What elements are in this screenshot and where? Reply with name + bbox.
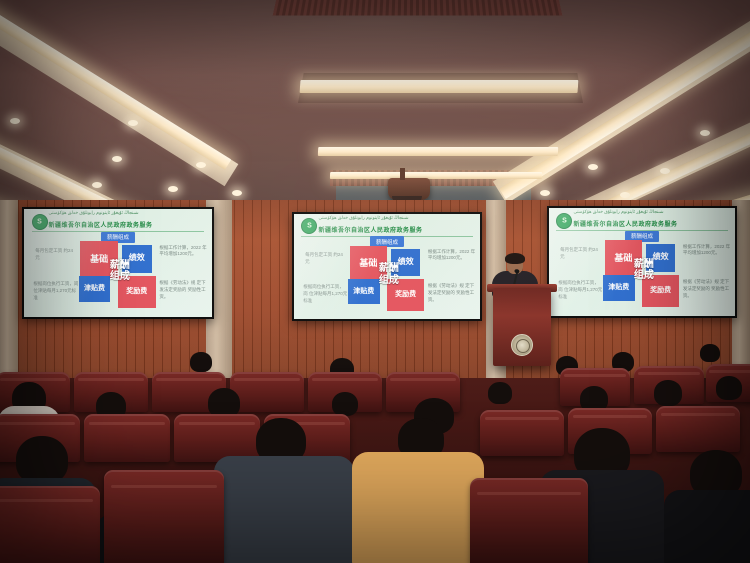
slide-note-4: 根据《劳动法》规 定下发法定奖励的 奖励性工资。: [428, 283, 476, 303]
slide-center-label: 薪酬 组成: [622, 259, 667, 281]
institution-seal-icon: [511, 334, 533, 356]
slide-note-2: 根据工作计算，2022 年平均增加1200元。: [159, 245, 208, 259]
downlight-icon: [660, 168, 670, 174]
center-label-line2: 组成: [622, 270, 667, 281]
led-strip-icon: [318, 147, 558, 156]
slide-org-uyghur: شىنجاڭ ئۇيغۇر ئاپتونوم رايونلۇق خەلق ھۆك…: [573, 209, 663, 215]
block-label: 津贴费: [84, 285, 105, 292]
center-label-line2: 组成: [97, 271, 142, 282]
slide-org-uyghur: شىنجاڭ ئۇيغۇر ئاپتونوم رايونلۇق خەلق ھۆك…: [318, 215, 408, 221]
center-screen[interactable]: S شىنجاڭ ئۇيغۇر ئاپتونوم رايونلۇق خەلق ھ…: [292, 212, 482, 321]
slide-surface: S شىنجاڭ ئۇيغۇر ئاپتونوم رايونلۇق خەلق ھ…: [294, 214, 480, 319]
downlight-icon: [700, 130, 710, 136]
slide-surface: S شىنجاڭ ئۇيغۇر ئاپتونوم رايونلۇق خەلق ھ…: [549, 208, 735, 316]
downlight-icon: [232, 190, 242, 196]
downlight-icon: [620, 192, 630, 198]
downlight-icon: [588, 164, 598, 170]
slide-header: S شىنجاڭ ئۇيغۇر ئاپتونوم رايونلۇق خەلق ھ…: [301, 217, 472, 234]
slide-center-label: 薪酬 组成: [97, 260, 142, 282]
audience-head: [700, 344, 720, 362]
slide-section-tag: 薪酬组成: [625, 231, 659, 242]
podium: [493, 288, 551, 366]
center-label-line1: 薪酬: [97, 260, 142, 271]
seat: [480, 410, 564, 456]
block-label: 津贴费: [608, 284, 629, 291]
org-logo-icon: S: [301, 218, 317, 234]
led-strip-icon: [330, 172, 542, 179]
seat: [656, 406, 740, 452]
block-label: 奖励费: [650, 287, 671, 294]
slide-org-chinese: 新疆维吾尔自治区人民政府政务服务: [573, 219, 677, 228]
block-label: 奖励费: [395, 291, 416, 298]
slide-org-chinese: 新疆维吾尔自治区人民政府政务服务: [318, 225, 422, 234]
audience-head: [332, 392, 358, 416]
wall-pilaster: [0, 200, 18, 385]
center-label-line2: 组成: [367, 275, 412, 286]
slide-header-rule: [32, 231, 205, 232]
slide-section-tag: 薪酬组成: [370, 236, 404, 247]
logo-glyph: S: [562, 217, 567, 224]
audience-head: [16, 436, 68, 484]
slide-header-rule: [556, 230, 727, 231]
slide-note-4: 根据《劳动法》规 定下发法定奖励的 奖励性工资。: [159, 280, 208, 300]
audience-head: [716, 376, 742, 400]
slide-note-4: 根据《劳动法》规 定下发法定奖励的 奖励性工资。: [683, 279, 731, 299]
downlight-icon: [128, 120, 138, 126]
slide-org-chinese: 新疆维吾尔自治区人民政府政务服务: [49, 220, 153, 229]
slide-header-rule: [301, 236, 472, 237]
downlight-icon: [168, 186, 178, 192]
slide-center-label: 薪酬 组成: [367, 263, 412, 285]
seat: [84, 414, 170, 462]
slide-surface: S شىنجاڭ ئۇيغۇر ئاپتونوم رايونلۇق خەلق ھ…: [24, 209, 212, 317]
slide-header: S شىنجاڭ ئۇيغۇر ئاپتونوم رايونلۇق خەلق ھ…: [556, 211, 727, 228]
left-screen[interactable]: S شىنجاڭ ئۇيغۇر ئاپتونوم رايونلۇق خەلق ھ…: [22, 207, 214, 319]
led-strip-icon: [300, 80, 579, 93]
right-screen[interactable]: S شىنجاڭ ئۇيغۇر ئاپتونوم رايونلۇق خەلق ھ…: [547, 206, 737, 318]
downlight-icon: [196, 162, 206, 168]
block-label: 奖励费: [126, 288, 147, 295]
slide-section-tag: 薪酬组成: [101, 232, 135, 243]
seat: [104, 470, 224, 563]
seat: [174, 414, 260, 462]
seat: [0, 486, 100, 563]
slide-note-1: 每月包定工资 约24元: [305, 252, 346, 266]
ceiling-coffer-grille: [273, 0, 563, 15]
block-label: 津贴费: [353, 288, 374, 295]
downlight-icon: [540, 190, 550, 196]
seat: [230, 372, 304, 412]
downlight-icon: [92, 182, 102, 188]
slide-note-2: 根据工作计算，2022 年平均增加1200元。: [428, 249, 476, 263]
audience-torso-jacket: [352, 452, 484, 563]
slide-org-uyghur: شىنجاڭ ئۇيغۇر ئاپتونوم رايونلۇق خەلق ھۆك…: [49, 210, 139, 216]
slide-note-3: 根据岗位执行工资，岗 位津贴每月1,270元标准: [33, 281, 78, 301]
org-logo-icon: S: [556, 213, 572, 229]
downlight-icon: [10, 118, 20, 124]
seat: [470, 478, 588, 563]
center-label-line1: 薪酬: [367, 263, 412, 274]
audience-head: [488, 382, 512, 404]
slide-note-3: 根据岗位执行工资，岗 位津贴每月1,270元标准: [303, 284, 348, 304]
slide-note-2: 根据工作计算，2022 年平均增加1200元。: [683, 244, 731, 258]
auditorium-photo: S شىنجاڭ ئۇيغۇر ئاپتونوم رايونلۇق خەلق ھ…: [0, 0, 750, 563]
audience-torso: [664, 490, 750, 563]
logo-glyph: S: [307, 223, 312, 230]
audience-head: [190, 352, 212, 372]
slide-note-3: 根据岗位执行工资，岗 位津贴每月1,270元标准: [558, 280, 603, 300]
audience-head: [654, 380, 682, 406]
logo-glyph: S: [37, 218, 42, 225]
audience-torso: [214, 456, 354, 563]
presenter-hair: [505, 253, 525, 264]
slide-note-1: 每月包定工资 约24元: [35, 248, 76, 262]
org-logo-icon: S: [32, 214, 48, 230]
slide-note-1: 每月包定工资 约24元: [560, 247, 601, 261]
slide-header: S شىنجاڭ ئۇيغۇر ئاپتونوم رايونلۇق خەلق ھ…: [32, 212, 205, 229]
downlight-icon: [112, 156, 122, 162]
center-label-line1: 薪酬: [622, 259, 667, 270]
